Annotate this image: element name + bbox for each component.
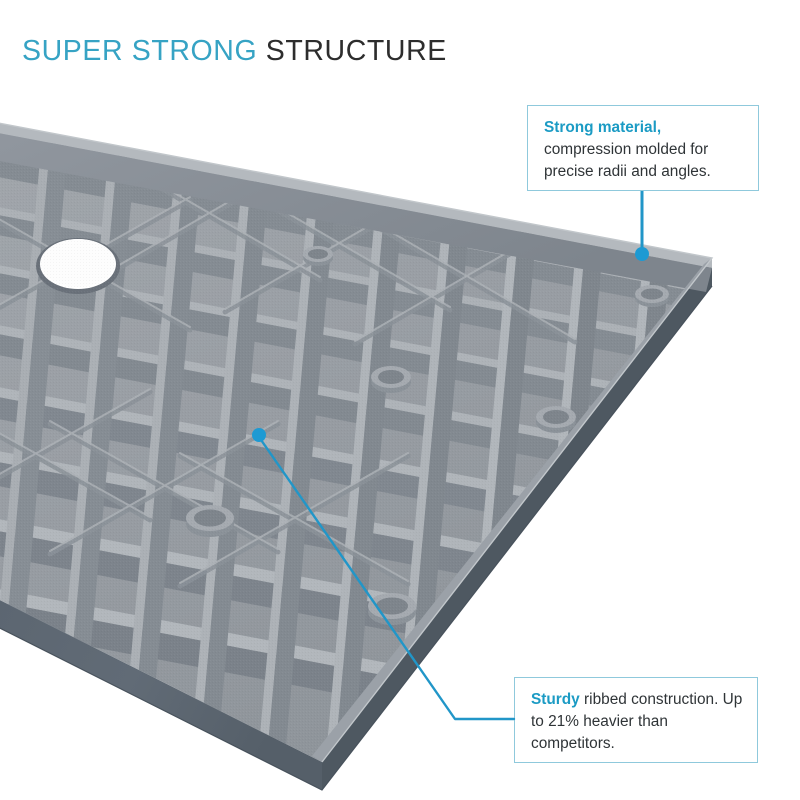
callout-strong-material-text: Strong material, compression molded for … [544,117,744,183]
callout-sturdy-ribbed-text: Sturdy ribbed construction. Up to 21% he… [531,689,743,755]
callout-strong-material[interactable]: Strong material, compression molded for … [527,105,759,191]
callout-sturdy-ribbed[interactable]: Sturdy ribbed construction. Up to 21% he… [514,677,758,763]
callout-strong-material-body: compression molded for precise radii and… [544,141,711,180]
page-title-plain: STRUCTURE [257,35,447,67]
callout-strong-material-lead: Strong material, [544,119,661,136]
page-title: SUPER STRONG STRUCTURE [22,37,447,66]
page-title-accent: SUPER STRONG [22,35,257,67]
callout-sturdy-ribbed-lead: Sturdy [531,691,580,708]
